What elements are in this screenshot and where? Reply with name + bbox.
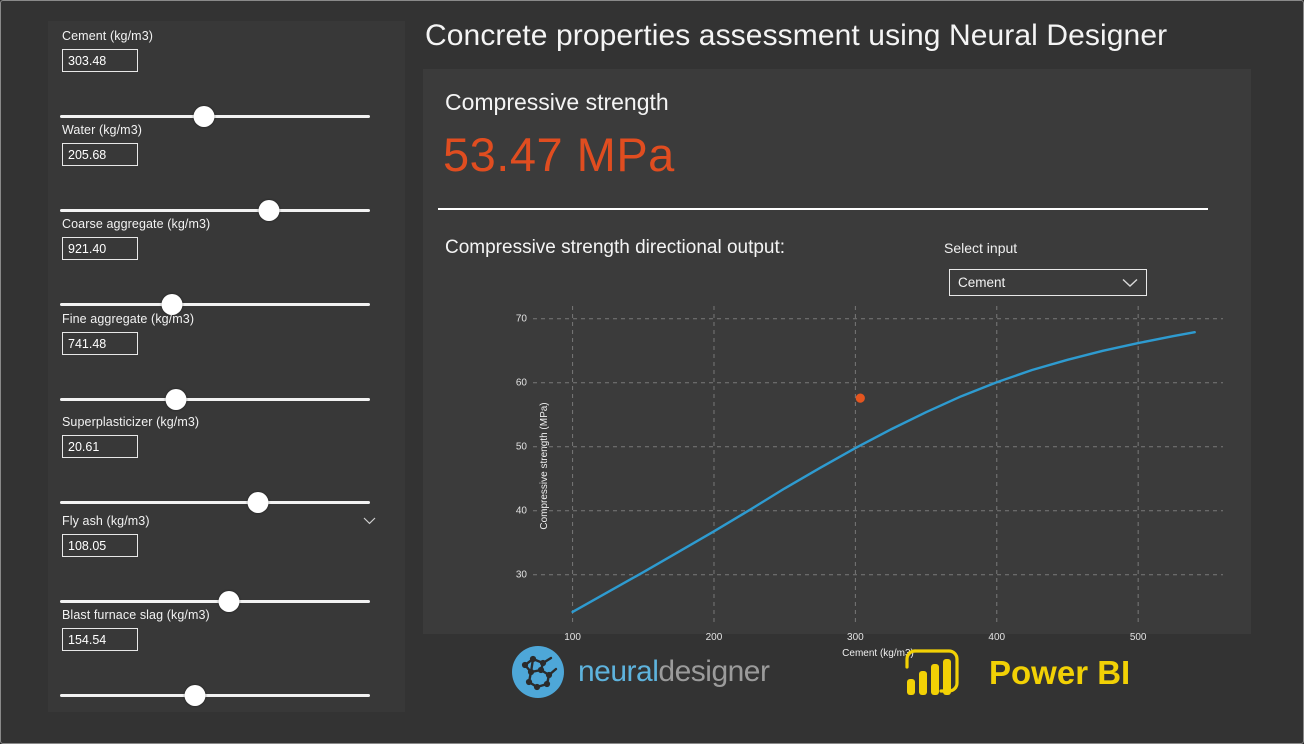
input-field-value[interactable] bbox=[62, 534, 138, 557]
kpi-value: 53.47 MPa bbox=[443, 127, 675, 182]
neural-designer-wordmark: neuraldesigner bbox=[578, 655, 769, 689]
input-field-value[interactable] bbox=[62, 49, 138, 72]
slider-track bbox=[60, 115, 370, 118]
chart-y-tick: 70 bbox=[516, 313, 527, 324]
input-field-value[interactable] bbox=[62, 143, 138, 166]
slider-thumb[interactable] bbox=[248, 492, 269, 513]
footer-logos: neuraldesigner Power BI bbox=[423, 634, 1251, 712]
chevron-down-icon[interactable] bbox=[363, 517, 376, 525]
input-field-group: Water (kg/m3) bbox=[62, 123, 392, 166]
input-field-label: Cement (kg/m3) bbox=[62, 29, 392, 43]
neural-designer-logo: neuraldesigner bbox=[511, 645, 769, 699]
input-field-group: Superplasticizer (kg/m3) bbox=[62, 415, 392, 458]
slider-thumb[interactable] bbox=[184, 685, 205, 706]
input-slider[interactable] bbox=[60, 685, 370, 707]
slider-track bbox=[60, 303, 370, 306]
slider-track bbox=[60, 209, 370, 212]
input-field-label: Water (kg/m3) bbox=[62, 123, 392, 137]
input-field-group: Cement (kg/m3) bbox=[62, 29, 392, 72]
wordmark-neural: neural bbox=[578, 655, 658, 688]
slider-track bbox=[60, 600, 370, 603]
select-input-dropdown[interactable]: Cement bbox=[949, 269, 1147, 296]
app-window: Cement (kg/m3)Water (kg/m3)Coarse aggreg… bbox=[0, 0, 1304, 744]
input-field-group: Fine aggregate (kg/m3) bbox=[62, 312, 392, 355]
input-field-group: Blast furnace slag (kg/m3) bbox=[62, 608, 392, 651]
input-field-value[interactable] bbox=[62, 332, 138, 355]
power-bi-wordmark: Power BI bbox=[989, 654, 1130, 692]
slider-track bbox=[60, 694, 370, 697]
input-field-label: Superplasticizer (kg/m3) bbox=[62, 415, 392, 429]
chart-canvas bbox=[533, 306, 1223, 626]
input-slider[interactable] bbox=[60, 389, 370, 411]
input-field-group: Coarse aggregate (kg/m3) bbox=[62, 217, 392, 260]
divider bbox=[438, 208, 1208, 210]
input-slider[interactable] bbox=[60, 492, 370, 514]
input-field-value[interactable] bbox=[62, 435, 138, 458]
main-card: Compressive strength 53.47 MPa Compressi… bbox=[423, 69, 1251, 634]
select-input-label: Select input bbox=[944, 240, 1017, 256]
inputs-sidebar: Cement (kg/m3)Water (kg/m3)Coarse aggreg… bbox=[48, 21, 405, 712]
chevron-down-icon bbox=[1122, 278, 1138, 288]
select-input-value: Cement bbox=[958, 275, 1122, 290]
kpi-label: Compressive strength bbox=[445, 89, 669, 116]
page-title: Concrete properties assessment using Neu… bbox=[425, 19, 1167, 53]
neural-network-globe-icon bbox=[511, 645, 565, 699]
slider-track bbox=[60, 501, 370, 504]
input-field-group: Fly ash (kg/m3) bbox=[62, 514, 392, 557]
input-field-label: Blast furnace slag (kg/m3) bbox=[62, 608, 392, 622]
input-field-label: Coarse aggregate (kg/m3) bbox=[62, 217, 392, 231]
directional-output-chart: Compressive strength (MPa) Cement (kg/m3… bbox=[533, 306, 1223, 626]
slider-track bbox=[60, 398, 370, 401]
chart-y-tick: 50 bbox=[516, 441, 527, 452]
power-bi-logo: Power BI bbox=[901, 647, 1130, 699]
wordmark-designer: designer bbox=[658, 655, 769, 688]
chart-y-tick: 60 bbox=[516, 377, 527, 388]
chart-y-tick: 40 bbox=[516, 505, 527, 516]
slider-thumb[interactable] bbox=[166, 389, 187, 410]
power-bi-bars-icon bbox=[901, 647, 963, 699]
input-field-label: Fly ash (kg/m3) bbox=[62, 514, 392, 528]
chart-y-tick: 30 bbox=[516, 569, 527, 580]
chart-title: Compressive strength directional output: bbox=[445, 237, 785, 259]
input-field-value[interactable] bbox=[62, 237, 138, 260]
input-field-label: Fine aggregate (kg/m3) bbox=[62, 312, 392, 326]
input-field-value[interactable] bbox=[62, 628, 138, 651]
